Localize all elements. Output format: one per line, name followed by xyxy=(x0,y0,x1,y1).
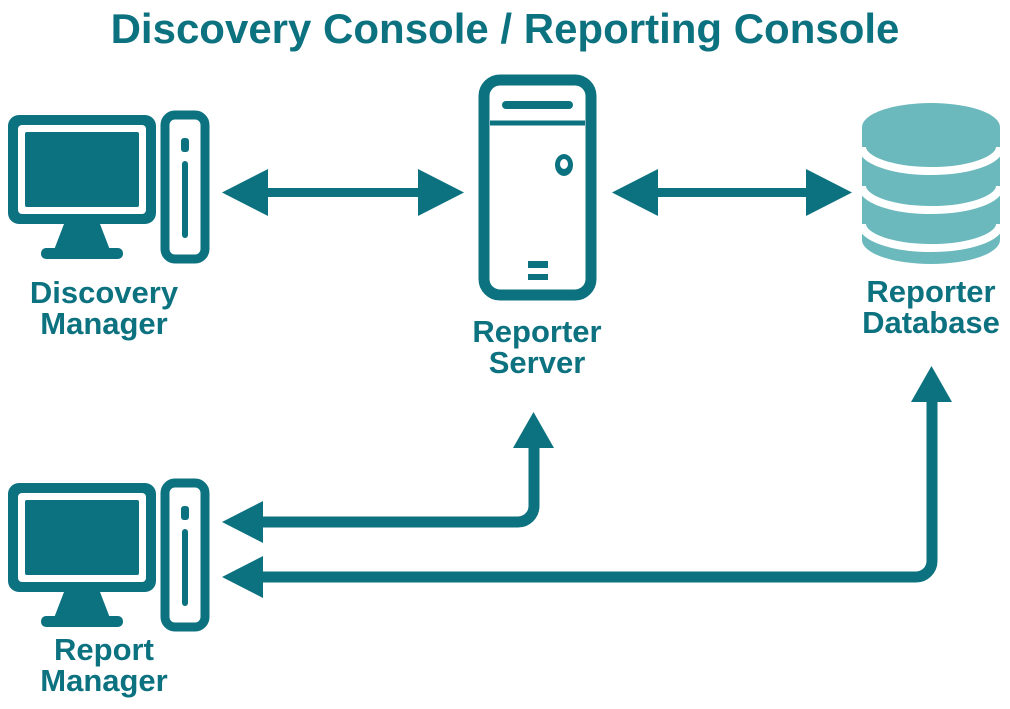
database-cylinder-icon xyxy=(862,103,1000,264)
node-label-reporter-database-line2: Database xyxy=(862,305,1000,340)
page-title: Discovery Console / Reporting Console xyxy=(111,5,900,52)
node-label-discovery-manager-line1: Discovery xyxy=(30,275,179,310)
node-label-reporter-server-line2: Server xyxy=(489,345,586,380)
node-label-reporter-server-line1: Reporter xyxy=(472,314,601,349)
node-label-reporter-database-line1: Reporter xyxy=(866,274,995,309)
architecture-diagram: Discovery Console / Reporting Console Di… xyxy=(0,0,1010,709)
node-label-report-manager-line2: Manager xyxy=(40,663,167,698)
node-label-discovery-manager-line2: Manager xyxy=(40,306,167,341)
node-reporter-database: Reporter Database xyxy=(862,103,1000,340)
node-label-report-manager-line1: Report xyxy=(54,632,154,667)
